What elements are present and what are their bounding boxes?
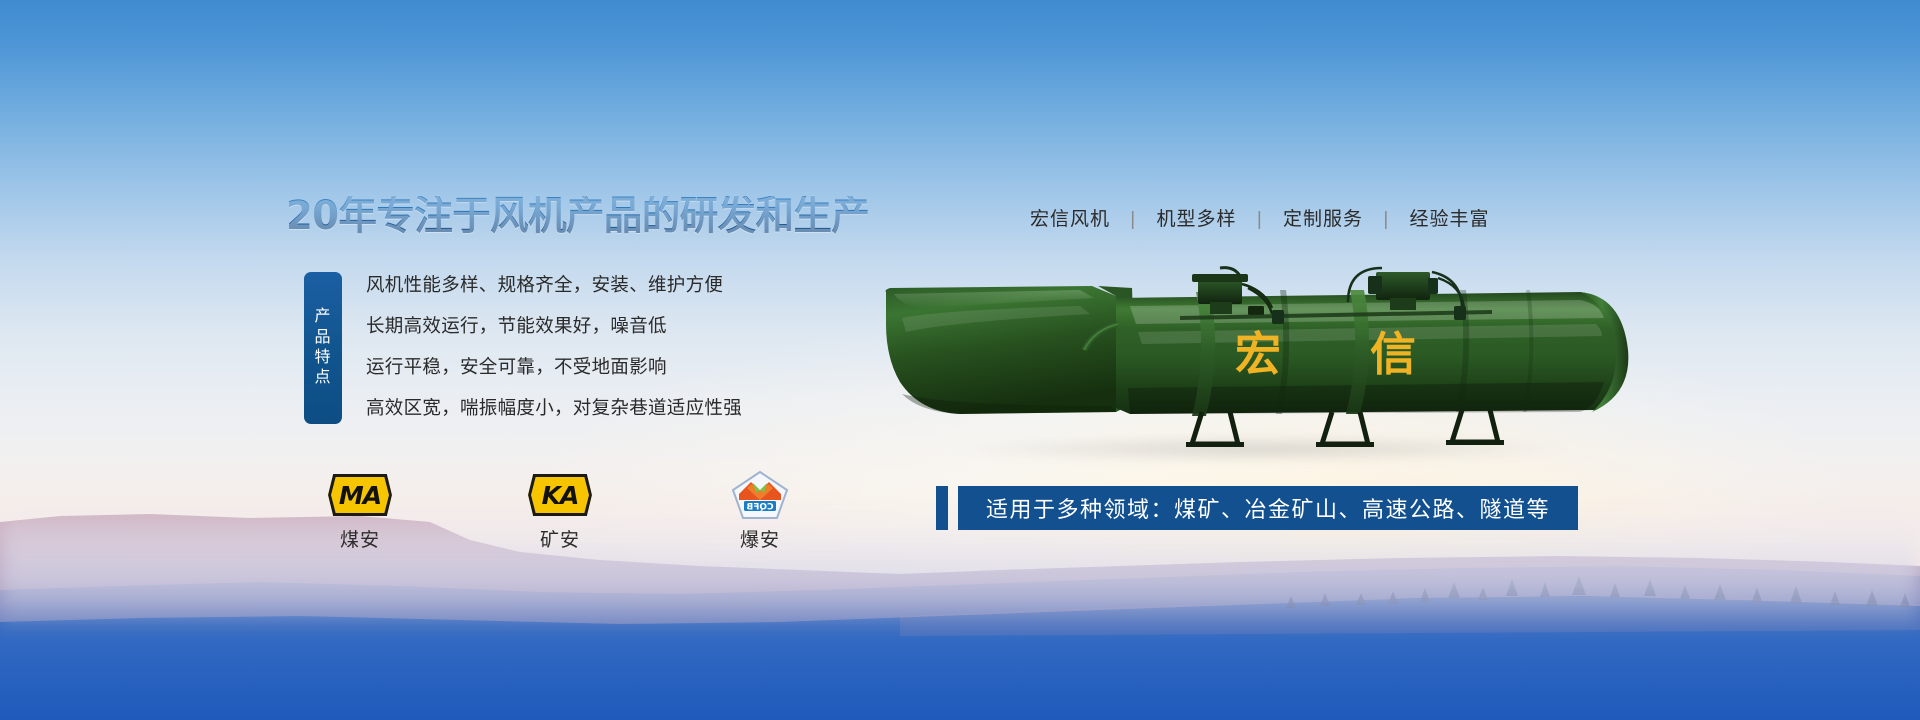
- feature-item: 风机性能多样、规格齐全，安装、维护方便: [366, 276, 742, 295]
- certification-caption: 煤安: [340, 525, 380, 552]
- feature-item: 运行平稳，安全可靠，不受地面影响: [366, 358, 742, 377]
- keyword-separator: |: [1116, 209, 1150, 230]
- features-vertical-tag: 产 品 特 点: [304, 272, 342, 424]
- page-title: 20年专注于风机产品的研发和生产: [286, 196, 869, 236]
- banner-text: 适用于多种领域：煤矿、冶金矿山、高速公路、隧道等: [958, 486, 1578, 530]
- certification-badge-ma[interactable]: MA 煤安: [318, 472, 402, 552]
- cqfb-badge-mark: CQFB: [746, 503, 773, 513]
- keyword-item-0[interactable]: 宏信风机: [1030, 209, 1110, 230]
- product-brand-char-0: 宏: [1235, 327, 1281, 381]
- feature-item: 长期高效运行，节能效果好，噪音低: [366, 317, 742, 336]
- ka-badge-mark: KA: [542, 483, 579, 508]
- ka-hex-badge-icon: KA: [528, 472, 592, 518]
- keyword-nav: 宏信风机 | 机型多样 | 定制服务 | 经验丰富: [1030, 204, 1490, 231]
- product-image-fan: 宏 信: [880, 262, 1640, 462]
- keyword-separator: |: [1243, 209, 1277, 230]
- features-tag-char-1: 品: [314, 328, 331, 348]
- keyword-item-3[interactable]: 经验丰富: [1410, 209, 1490, 230]
- certification-caption: 矿安: [540, 525, 580, 552]
- keyword-item-2[interactable]: 定制服务: [1283, 209, 1363, 230]
- hero-banner: 20年专注于风机产品的研发和生产 宏信风机 | 机型多样 | 定制服务 | 经验…: [0, 0, 1920, 720]
- ma-badge-mark: MA: [339, 483, 381, 508]
- application-banner: 适用于多种领域：煤矿、冶金矿山、高速公路、隧道等: [936, 486, 1578, 530]
- keyword-separator: |: [1369, 209, 1403, 230]
- features-tag-char-0: 产: [314, 307, 331, 327]
- features-tag-char-3: 点: [314, 368, 331, 388]
- certification-badge-cqfb[interactable]: CQFB 爆安: [718, 472, 802, 552]
- certification-badges: MA 煤安 KA 矿安 CQFB: [318, 472, 802, 552]
- cqfb-pentagon-badge-icon: CQFB: [731, 472, 789, 518]
- product-features: 产 品 特 点 风机性能多样、规格齐全，安装、维护方便 长期高效运行，节能效果好…: [304, 272, 742, 424]
- ma-hex-badge-icon: MA: [328, 472, 392, 518]
- certification-badge-ka[interactable]: KA 矿安: [518, 472, 602, 552]
- banner-accent-chip: [936, 486, 948, 530]
- keyword-item-1[interactable]: 机型多样: [1157, 209, 1237, 230]
- features-tag-char-2: 特: [314, 348, 331, 368]
- certification-caption: 爆安: [740, 525, 780, 552]
- features-list: 风机性能多样、规格齐全，安装、维护方便 长期高效运行，节能效果好，噪音低 运行平…: [366, 272, 742, 418]
- feature-item: 高效区宽，喘振幅度小，对复杂巷道适应性强: [366, 399, 742, 418]
- product-brand-char-1: 信: [1370, 327, 1416, 381]
